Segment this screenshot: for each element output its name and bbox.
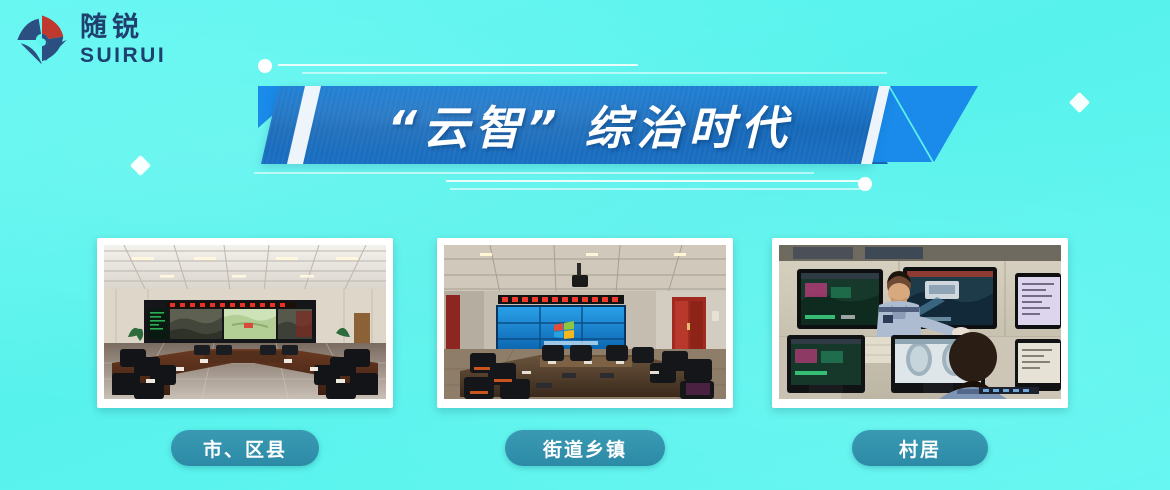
village-monitoring-room-photo bbox=[779, 245, 1061, 399]
decor-line-bottom-3 bbox=[450, 188, 860, 190]
township-room-illustration bbox=[444, 245, 726, 399]
decor-triangle-down bbox=[890, 86, 978, 162]
card-label-text: 村居 bbox=[899, 435, 941, 462]
decor-line-top-2 bbox=[302, 72, 887, 74]
photo-frame bbox=[772, 238, 1068, 408]
brand-name-en: SUIRUI bbox=[80, 45, 166, 66]
monitoring-room-illustration bbox=[779, 245, 1061, 399]
card-city-district[interactable]: 市、区县 bbox=[97, 238, 393, 466]
decor-line-bottom-2 bbox=[446, 180, 866, 182]
decor-line-bottom-1 bbox=[254, 172, 814, 174]
photo-frame bbox=[437, 238, 733, 408]
decor-dot-bottom-right bbox=[858, 177, 872, 191]
photo-frame bbox=[97, 238, 393, 408]
decor-diamond-right bbox=[1069, 92, 1090, 113]
suirui-pinwheel-icon bbox=[14, 12, 70, 68]
city-district-command-center-photo bbox=[104, 245, 386, 399]
card-village[interactable]: 村居 bbox=[772, 238, 1068, 466]
brand-name-cn: 随锐 bbox=[80, 14, 166, 41]
card-label-pill[interactable]: 村居 bbox=[852, 430, 988, 466]
decor-diamond-left bbox=[130, 155, 151, 176]
card-row: 市、区县 bbox=[0, 238, 1170, 478]
command-center-illustration bbox=[104, 245, 386, 399]
street-township-meeting-room-photo bbox=[444, 245, 726, 399]
card-label-pill[interactable]: 市、区县 bbox=[171, 430, 319, 466]
card-label-pill[interactable]: 街道乡镇 bbox=[505, 430, 665, 466]
banner-title-text: “云智” 综治时代 bbox=[290, 86, 890, 164]
card-label-text: 市、区县 bbox=[203, 435, 287, 462]
card-label-text: 街道乡镇 bbox=[543, 435, 627, 462]
decor-line-top-1 bbox=[278, 64, 638, 66]
title-banner: “云智” 综治时代 bbox=[250, 52, 950, 197]
card-street-township[interactable]: 街道乡镇 bbox=[437, 238, 733, 466]
decor-dot-top-left bbox=[258, 59, 272, 73]
brand-logo: 随锐 SUIRUI bbox=[14, 12, 166, 68]
